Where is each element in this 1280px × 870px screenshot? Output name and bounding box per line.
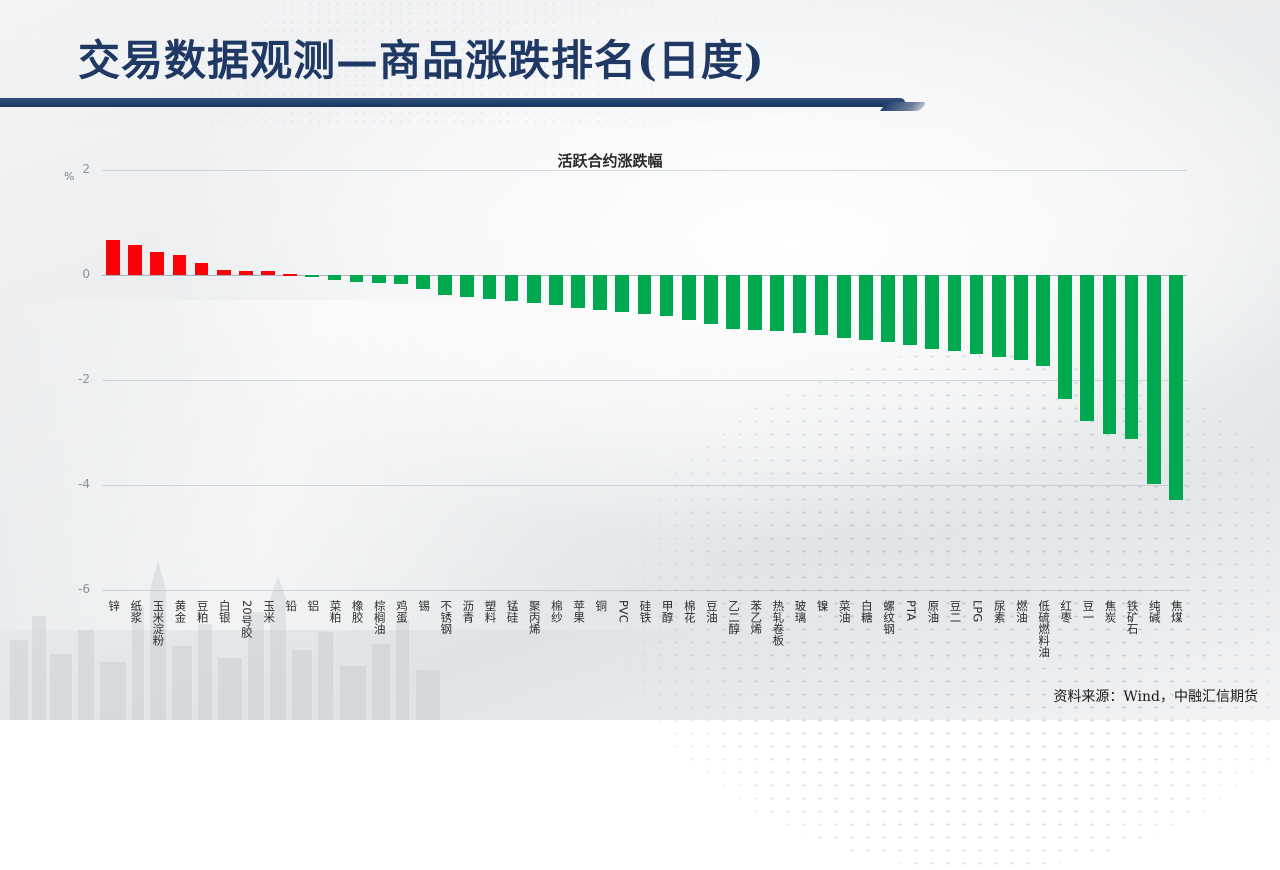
bar: [527, 275, 541, 303]
bar: [682, 275, 696, 320]
x-axis-tick-label: 热轧卷板: [770, 600, 784, 646]
bar: [217, 270, 231, 275]
bar: [726, 275, 740, 329]
x-axis-tick-label: PVC: [615, 600, 629, 623]
x-axis-tick-label: 聚丙烯: [527, 600, 541, 635]
bar: [483, 275, 497, 299]
bar: [881, 275, 895, 342]
bar: [815, 275, 829, 335]
x-axis-tick-label: 豆粕: [195, 600, 209, 623]
x-axis-tick-label: 铁矿石: [1125, 600, 1139, 635]
bar: [1103, 275, 1117, 434]
bar: [837, 275, 851, 338]
x-axis-tick-label: 红枣: [1058, 600, 1072, 623]
bar: [173, 255, 187, 275]
y-axis-tick-label: -6: [30, 582, 90, 596]
bar: [305, 275, 319, 277]
bar: [793, 275, 807, 333]
gridline: [102, 170, 1187, 171]
x-axis-tick-label: 苹果: [571, 600, 585, 623]
x-axis-tick-label: 铅: [283, 600, 297, 612]
bar: [350, 275, 364, 282]
plot-area: 20-2-4-6锌纸浆玉米淀粉黄金豆粕白银20号胶玉米铅铝菜粕橡胶棕榈油鸡蛋锡不…: [102, 170, 1187, 590]
x-axis-tick-label: 苯乙烯: [748, 600, 762, 635]
bar: [1125, 275, 1139, 439]
gridline: [102, 485, 1187, 486]
slide: 交易数据观测—商品涨跌排名(日度) 活跃合约涨跌幅 % 20-2-4-6锌纸浆玉…: [0, 0, 1280, 720]
x-axis-tick-label: 甲醇: [660, 600, 674, 623]
bar: [416, 275, 430, 289]
bar: [505, 275, 519, 301]
bar: [571, 275, 585, 308]
x-axis-tick-label: 20号胶: [239, 600, 253, 638]
slide-header: 交易数据观测—商品涨跌排名(日度): [0, 0, 1280, 125]
bar: [1080, 275, 1094, 421]
bar: [660, 275, 674, 316]
bar: [438, 275, 452, 295]
x-axis-tick-label: PTA: [903, 600, 917, 621]
x-axis-tick-label: 锌: [106, 600, 120, 612]
bar: [1036, 275, 1050, 366]
bar: [106, 240, 120, 275]
bar: [261, 271, 275, 275]
bar: [128, 245, 142, 275]
chart-title: 活跃合约涨跌幅: [0, 150, 1250, 171]
bar: [549, 275, 563, 305]
bar: [903, 275, 917, 345]
bar: [239, 271, 253, 275]
y-axis-tick-label: 2: [30, 162, 90, 176]
bar: [394, 275, 408, 284]
x-axis-tick-label: 棉花: [682, 600, 696, 623]
x-axis-tick-label: 玉米淀粉: [150, 600, 164, 646]
bar: [460, 275, 474, 297]
bar: [372, 275, 386, 283]
bar: [704, 275, 718, 324]
x-axis-tick-label: 燃油: [1014, 600, 1028, 623]
x-axis-tick-label: 焦炭: [1103, 600, 1117, 623]
bar: [859, 275, 873, 340]
x-axis-tick-label: 菜油: [837, 600, 851, 623]
bar: [328, 275, 342, 280]
y-axis-tick-label: -4: [30, 477, 90, 491]
x-axis-tick-label: 塑料: [483, 600, 497, 623]
x-axis-tick-label: 不锈钢: [438, 600, 452, 635]
x-axis-tick-label: 锡: [416, 600, 430, 612]
bar: [748, 275, 762, 330]
bar: [195, 263, 209, 275]
bar-chart: 活跃合约涨跌幅 % 20-2-4-6锌纸浆玉米淀粉黄金豆粕白银20号胶玉米铅铝菜…: [0, 130, 1280, 690]
bar: [948, 275, 962, 351]
x-axis-tick-label: 玻璃: [793, 600, 807, 623]
header-divider: [0, 98, 930, 120]
x-axis-tick-label: 白银: [217, 600, 231, 623]
bar: [615, 275, 629, 312]
x-axis-tick-label: 镍: [815, 600, 829, 612]
y-axis-tick-label: -2: [30, 372, 90, 386]
bar: [992, 275, 1006, 357]
x-axis-tick-label: 橡胶: [350, 600, 364, 623]
x-axis-tick-label: 尿素: [992, 600, 1006, 623]
x-axis-tick-label: 豆油: [704, 600, 718, 623]
bar: [770, 275, 784, 331]
x-axis-tick-label: 硅铁: [638, 600, 652, 623]
x-axis-tick-label: LPG: [970, 600, 984, 622]
x-axis-tick-label: 沥青: [460, 600, 474, 623]
bar: [925, 275, 939, 349]
source-note: 资料来源：Wind，中融汇信期货: [1053, 686, 1258, 706]
bar: [593, 275, 607, 310]
x-axis-tick-label: 棕榈油: [372, 600, 386, 635]
x-axis-tick-label: 原油: [925, 600, 939, 623]
bar: [150, 252, 164, 275]
x-axis-tick-label: 纸浆: [128, 600, 142, 623]
x-axis-tick-label: 低硫燃料油: [1036, 600, 1050, 658]
gridline: [102, 380, 1187, 381]
x-axis-tick-label: 玉米: [261, 600, 275, 623]
bar: [1169, 275, 1183, 500]
x-axis-tick-label: 铜: [593, 600, 607, 612]
x-axis-tick-label: 鸡蛋: [394, 600, 408, 623]
x-axis-tick-label: 豆二: [948, 600, 962, 623]
x-axis-tick-label: 螺纹钢: [881, 600, 895, 635]
page-title: 交易数据观测—商品涨跌排名(日度): [78, 27, 765, 88]
bar: [1147, 275, 1161, 484]
y-axis-tick-label: 0: [30, 267, 90, 281]
x-axis-tick-label: 菜粕: [328, 600, 342, 623]
bar: [1014, 275, 1028, 360]
x-axis-tick-label: 铝: [305, 600, 319, 612]
x-axis-tick-label: 豆一: [1080, 600, 1094, 623]
x-axis-tick-label: 白糖: [859, 600, 873, 623]
x-axis-tick-label: 乙二醇: [726, 600, 740, 635]
x-axis-tick-label: 黄金: [173, 600, 187, 623]
x-axis-tick-label: 棉纱: [549, 600, 563, 623]
bar: [970, 275, 984, 354]
x-axis-tick-label: 焦煤: [1169, 600, 1183, 623]
x-axis-tick-label: 锰硅: [505, 600, 519, 623]
bar: [638, 275, 652, 314]
bar: [283, 274, 297, 276]
bar: [1058, 275, 1072, 399]
x-axis-tick-label: 纯碱: [1147, 600, 1161, 623]
gridline: [102, 590, 1187, 591]
